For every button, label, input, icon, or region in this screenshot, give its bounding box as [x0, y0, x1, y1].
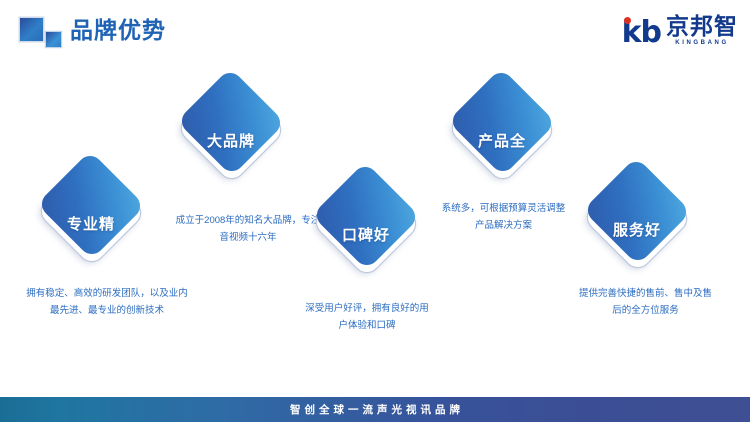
page-title: 品牌优势: [70, 14, 166, 46]
diamond-shape-4: [448, 68, 557, 177]
logo-red-dot-icon: [624, 17, 631, 24]
logo-mark-icon: kb: [622, 18, 661, 48]
advantage-desc-3: 深受用户好评，拥有良好的用户体验和口碑: [302, 300, 432, 334]
footer-slogan: 智创全球一流声光视讯品牌: [286, 402, 464, 417]
slide-header: 品牌优势 kb 京邦智 KINGBANG: [0, 0, 750, 60]
diamond-shape-1: [37, 151, 146, 260]
advantage-label-4: 产品全: [447, 130, 557, 151]
square-large-icon: [20, 18, 43, 41]
advantage-label-3: 口碑好: [311, 224, 421, 245]
logo-name-cn: 京邦智: [666, 14, 738, 38]
advantage-label-5: 服务好: [582, 219, 692, 240]
brand-logo: kb 京邦智 KINGBANG: [622, 14, 738, 48]
logo-name-group: 京邦智 KINGBANG: [666, 14, 738, 48]
advantage-desc-2: 成立于2008年的知名大品牌，专注音视频十六年: [173, 212, 323, 246]
square-small-icon: [46, 32, 61, 47]
advantage-desc-1: 拥有稳定、高效的研发团队，以及业内最先进、最专业的创新技术: [22, 285, 192, 319]
logo-name-en: KINGBANG: [675, 39, 728, 48]
advantage-label-1: 专业精: [36, 213, 146, 234]
advantage-desc-4: 系统多，可根据预算灵活调整产品解决方案: [441, 200, 566, 234]
advantage-label-2: 大品牌: [176, 130, 286, 151]
slide-canvas: 品牌优势 kb 京邦智 KINGBANG 专业精 拥有稳定、高效的研发团队，以及…: [0, 0, 750, 422]
diamond-shape-2: [177, 68, 286, 177]
title-decoration: [20, 18, 68, 48]
slide-footer: 智创全球一流声光视讯品牌: [0, 397, 750, 422]
advantage-desc-5: 提供完善快捷的售前、售中及售后的全方位服务: [578, 285, 713, 319]
diamond-shape-5: [583, 157, 692, 266]
diamond-shape-3: [312, 162, 421, 271]
